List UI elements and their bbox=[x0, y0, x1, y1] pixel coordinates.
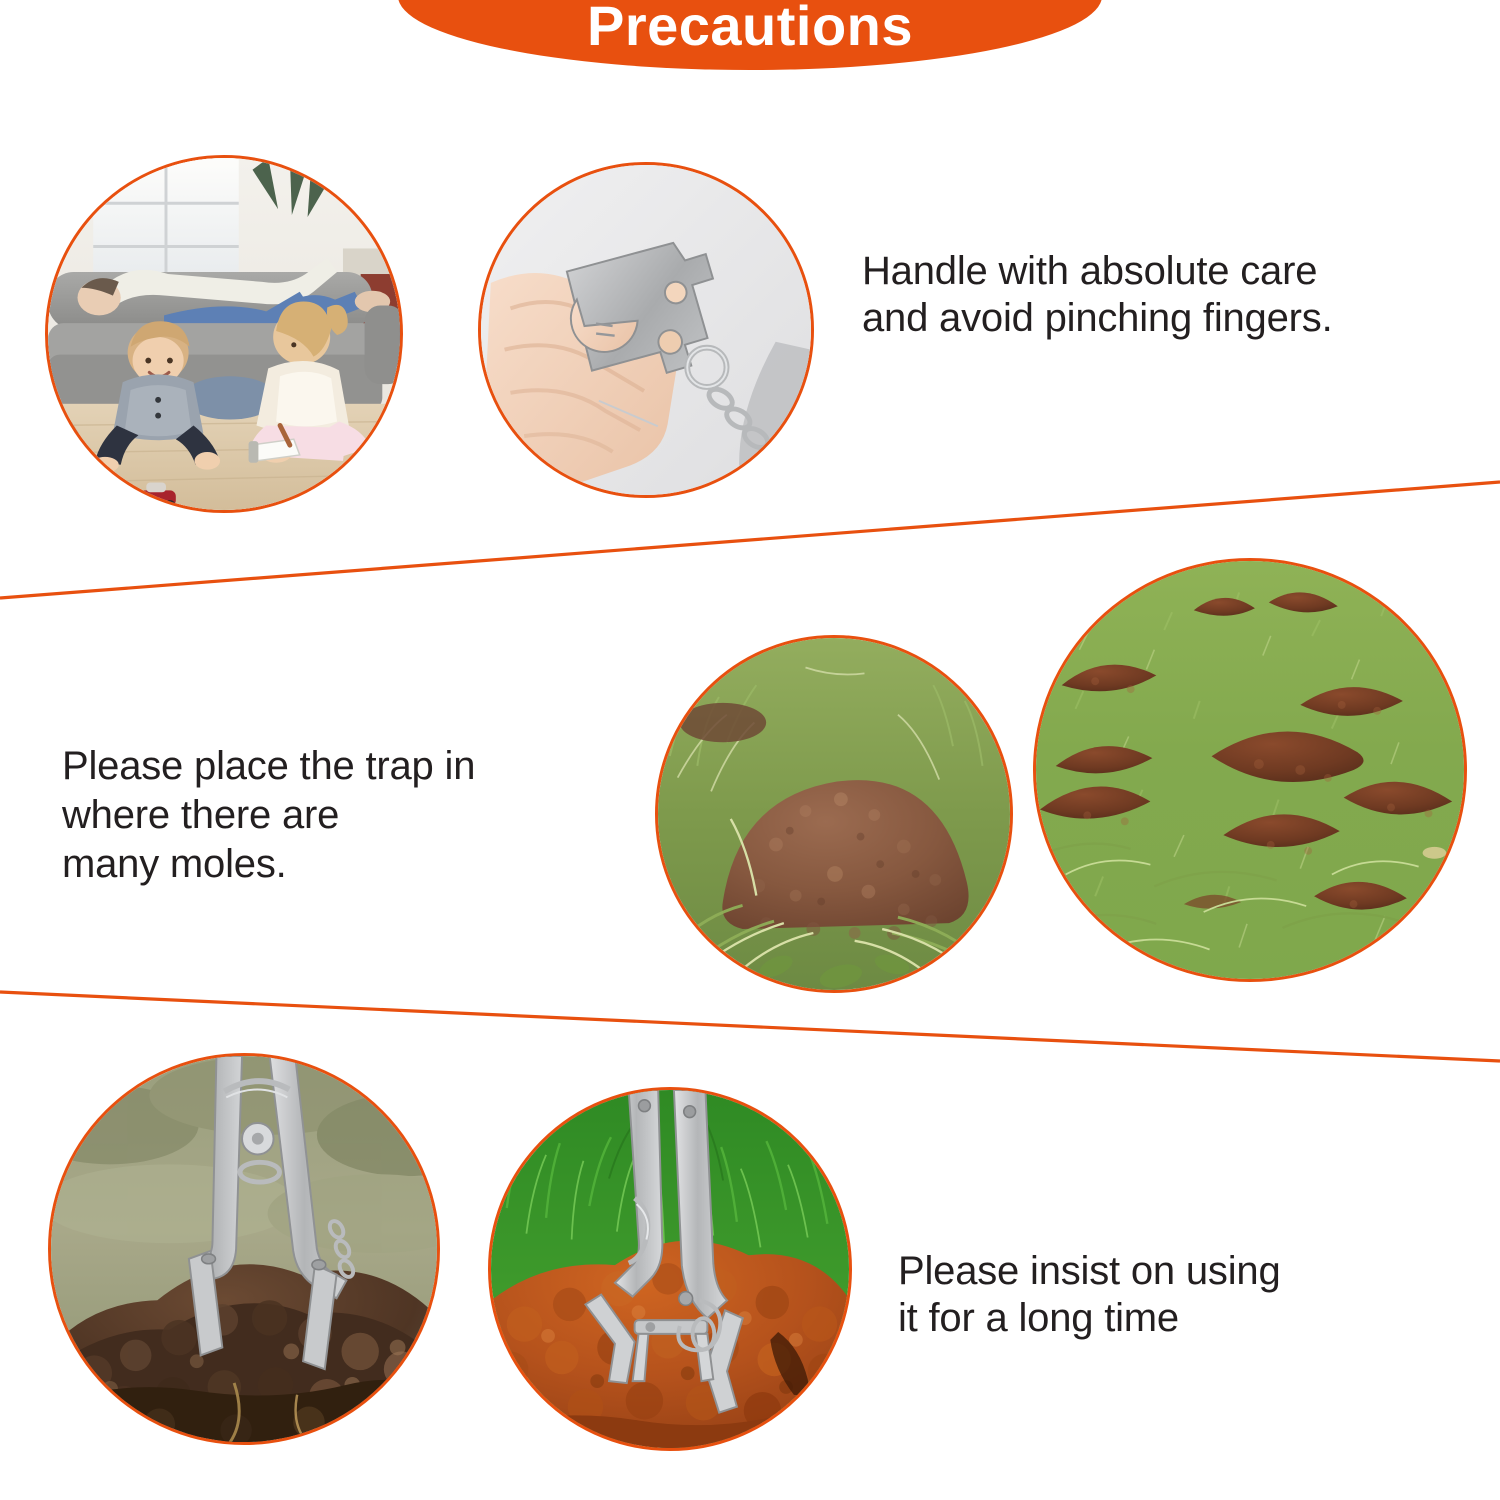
family-living-room-photo bbox=[45, 155, 403, 513]
caption-line: Please insist on using bbox=[898, 1249, 1281, 1293]
divider-line-2 bbox=[0, 992, 1500, 1061]
trap-in-red-soil-photo bbox=[488, 1087, 852, 1451]
lawn-many-molehills-photo bbox=[1033, 558, 1467, 982]
caption-line: Handle with absolute care bbox=[862, 249, 1317, 293]
caption-insist-on-using: Please insist on using it for a long tim… bbox=[898, 1248, 1281, 1342]
caption-line: many moles. bbox=[62, 842, 287, 886]
single-molehill-photo bbox=[655, 635, 1013, 993]
page-title: Precautions bbox=[587, 0, 913, 70]
caption-place-the-trap: Please place the trap in where there are… bbox=[62, 742, 475, 888]
header-banner: Precautions bbox=[398, 0, 1102, 70]
trap-in-dark-soil-photo bbox=[48, 1053, 440, 1445]
caption-line: Please place the trap in bbox=[62, 744, 475, 788]
caption-line: where there are bbox=[62, 793, 339, 837]
infographic-stage: Precautions bbox=[0, 0, 1500, 1500]
caption-handle-with-care: Handle with absolute care and avoid pinc… bbox=[862, 248, 1332, 342]
hand-holding-trap-plate-photo bbox=[478, 162, 814, 498]
caption-line: it for a long time bbox=[898, 1296, 1179, 1340]
caption-line: and avoid pinching fingers. bbox=[862, 296, 1332, 340]
